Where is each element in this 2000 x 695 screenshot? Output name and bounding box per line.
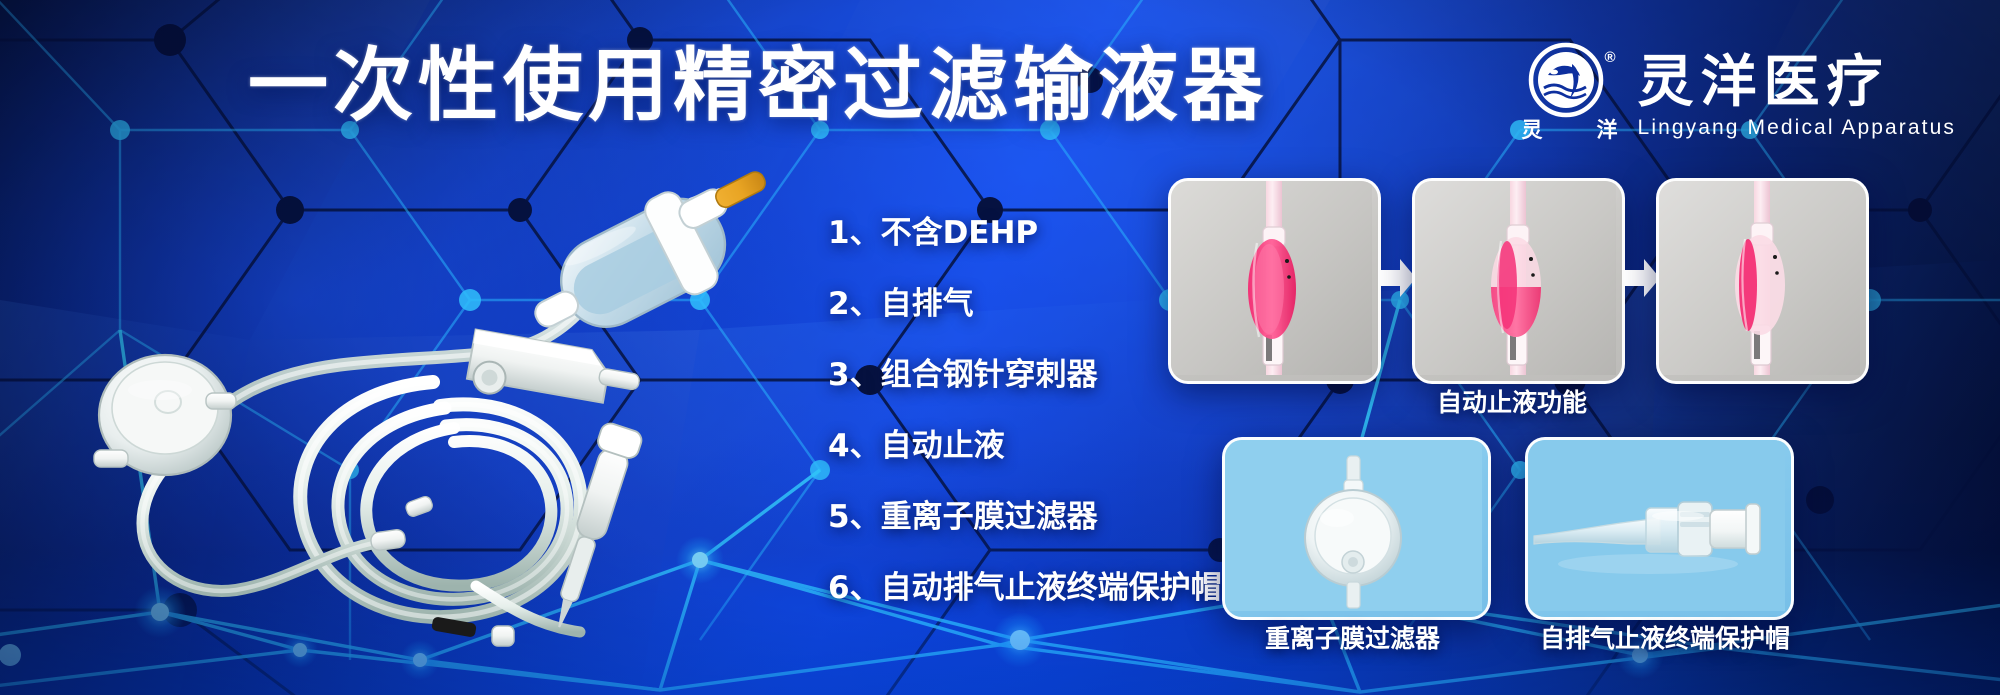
hero-connectors bbox=[370, 495, 434, 551]
demo-card-protective-cap bbox=[1525, 437, 1794, 620]
demo-frame-1 bbox=[1168, 178, 1381, 384]
page-title: 一次性使用精密过滤输液器 bbox=[248, 46, 1268, 126]
feature-item-3: 3、组合钢针穿刺器 bbox=[828, 360, 1222, 391]
registered-trademark-mark: ® bbox=[1604, 50, 1615, 65]
demo-frame-2 bbox=[1412, 178, 1625, 384]
product-banner: 一次性使用精密过滤输液器 ® 灵 洋 灵洋医疗 bbox=[0, 0, 2000, 695]
brand-emblem: ® 灵 洋 bbox=[1522, 42, 1618, 150]
brand-name-cn: 灵洋医疗 bbox=[1638, 54, 1956, 113]
caption-auto-stop: 自动止液功能 bbox=[1437, 390, 1587, 415]
brand-emblem-char-right: 洋 bbox=[1597, 120, 1618, 141]
caption-protective-cap: 自排气止液终端保护帽 bbox=[1540, 626, 1790, 651]
feature-list: 1、不含DEHP 2、自排气 3、组合钢针穿刺器 4、自动止液 5、重离子膜过滤… bbox=[828, 218, 1222, 604]
feature-item-2: 2、自排气 bbox=[828, 289, 1222, 320]
hero-filter-disc bbox=[94, 355, 236, 475]
brand-name-en: Lingyang Medical Apparatus bbox=[1638, 117, 1956, 138]
brand-emblem-subtext: 灵 洋 bbox=[1522, 120, 1618, 141]
feature-item-4: 4、自动止液 bbox=[828, 431, 1222, 462]
demo-card-filter bbox=[1222, 437, 1491, 620]
feature-item-1: 1、不含DEHP bbox=[828, 218, 1222, 249]
caption-filter: 重离子膜过滤器 bbox=[1265, 626, 1440, 651]
brand-logo: ® 灵 洋 灵洋医疗 Lingyang Medical Apparatus bbox=[1522, 42, 1956, 150]
brand-emblem-char-left: 灵 bbox=[1522, 120, 1543, 141]
brand-text: 灵洋医疗 Lingyang Medical Apparatus bbox=[1638, 54, 1956, 138]
demo-frame-3 bbox=[1656, 178, 1869, 384]
lingyang-circular-wave-emblem bbox=[1528, 42, 1604, 118]
feature-item-6: 6、自动排气止液终端保护帽 bbox=[828, 573, 1222, 604]
feature-item-5: 5、重离子膜过滤器 bbox=[828, 502, 1222, 533]
hero-product-image bbox=[40, 150, 800, 650]
